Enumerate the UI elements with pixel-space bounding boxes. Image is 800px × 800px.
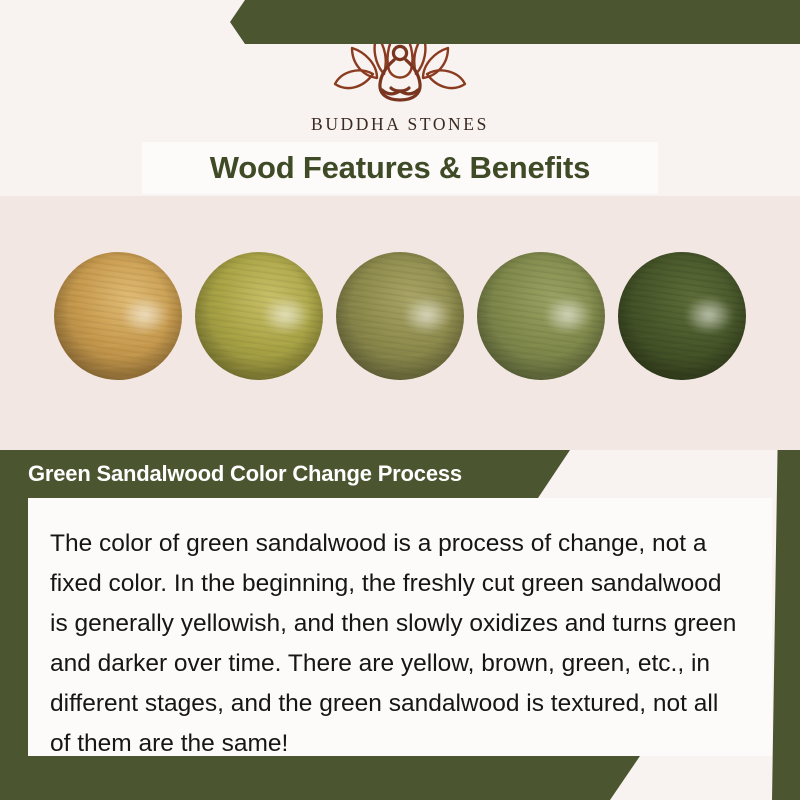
frame-bar-top-right bbox=[215, 0, 800, 44]
bead-highlight bbox=[403, 296, 452, 334]
bead-highlight bbox=[121, 296, 170, 334]
bead-stage-2 bbox=[195, 252, 323, 380]
bead-stage-5 bbox=[618, 252, 746, 380]
bead-stage-3 bbox=[336, 252, 464, 380]
bead-highlight bbox=[685, 296, 734, 334]
title-banner: Wood Features & Benefits bbox=[142, 142, 658, 194]
section-heading: Green Sandalwood Color Change Process bbox=[28, 461, 462, 487]
description-paragraph: The color of green sandalwood is a proce… bbox=[50, 524, 740, 764]
page-title: Wood Features & Benefits bbox=[210, 150, 590, 186]
brand-name: BUDDHA STONES bbox=[0, 114, 800, 135]
infographic-canvas: BUDDHA STONES Wood Features & Benefits G… bbox=[0, 0, 800, 800]
bead-stage-1 bbox=[54, 252, 182, 380]
bead-row bbox=[0, 252, 800, 380]
description-card: The color of green sandalwood is a proce… bbox=[28, 498, 772, 756]
section-heading-band: Green Sandalwood Color Change Process bbox=[0, 450, 570, 498]
bead-stage-4 bbox=[477, 252, 605, 380]
bead-gallery bbox=[0, 196, 800, 450]
bead-highlight bbox=[544, 296, 593, 334]
bead-highlight bbox=[262, 296, 311, 334]
